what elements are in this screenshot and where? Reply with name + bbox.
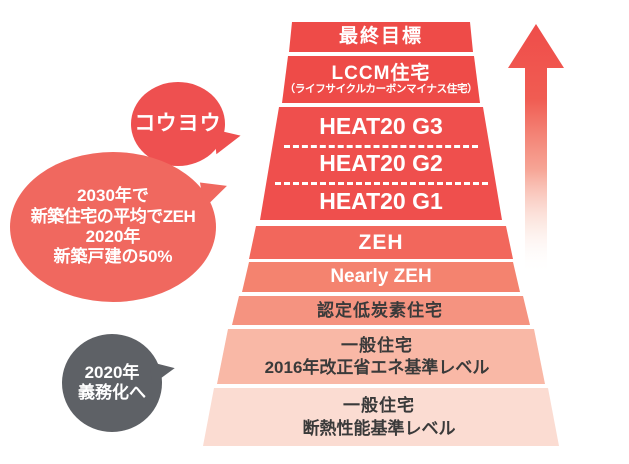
callout-koyo-label: コウヨウ xyxy=(134,111,221,136)
up-arrow-icon xyxy=(505,22,567,274)
diagram-canvas: 最終目標 LCCM住宅 （ライフサイクルカーボンマイナス住宅） HEAT20 G… xyxy=(0,0,629,464)
callout-zeh-target-line4: 新築戸建の50% xyxy=(53,247,172,267)
tier-zeh[interactable]: ZEH xyxy=(252,226,510,259)
heat20-divider-g2-g1 xyxy=(275,182,488,185)
callout-zeh-target-tail xyxy=(200,178,230,208)
callout-obligation-line1: 2020年 xyxy=(85,363,140,383)
tier-general-2016[interactable]: 一般住宅 2016年改正省エネ基準レベル xyxy=(221,329,533,384)
callout-koyo-tail xyxy=(214,127,242,155)
callout-zeh-target-line1: 2030年で xyxy=(77,186,149,206)
zeh-divider xyxy=(252,259,510,262)
callout-obligation-line2: 義務化へ xyxy=(78,383,146,403)
callout-obligation-tail xyxy=(150,360,176,385)
tier-heat20-g2[interactable]: HEAT20 G2 xyxy=(272,146,490,182)
tier-nearly-zeh[interactable]: Nearly ZEH xyxy=(245,262,517,292)
tier-sublabel-general-2016: 2016年改正省エネ基準レベル xyxy=(265,358,490,377)
tier-teitanso[interactable]: 認定低炭素住宅 xyxy=(235,296,525,325)
tier-sublabel-general-base: 断熱性能基準レベル xyxy=(303,419,456,438)
tier-label-general-base: 一般住宅 xyxy=(343,396,415,415)
tier-label-zeh: ZEH xyxy=(359,231,404,255)
tier-label-general-2016: 一般住宅 xyxy=(341,336,413,355)
tier-label-lccm: LCCM住宅 xyxy=(332,63,431,84)
tier-heat20-g1[interactable]: HEAT20 G1 xyxy=(264,183,498,220)
tier-sublabel-lccm: （ライフサイクルカーボンマイナス住宅） xyxy=(285,84,478,96)
tier-label-final-goal: 最終目標 xyxy=(339,26,423,47)
callout-zeh-target[interactable]: 2030年で 新築住宅の平均でZEH 2020年 新築戸建の50% xyxy=(10,152,216,302)
tier-heat20-g3[interactable]: HEAT20 G3 xyxy=(279,108,483,145)
heat20-divider-g3-g2 xyxy=(284,145,478,148)
tier-label-heat20-g1: HEAT20 G1 xyxy=(319,189,443,215)
tier-final-goal[interactable]: 最終目標 xyxy=(289,22,473,52)
callout-koyo[interactable]: コウヨウ xyxy=(131,82,225,166)
callout-obligation[interactable]: 2020年 義務化へ xyxy=(62,334,162,432)
tier-label-heat20-g2: HEAT20 G2 xyxy=(319,151,443,177)
tier-general-base[interactable]: 一般住宅 断熱性能基準レベル xyxy=(207,388,551,446)
tier-lccm[interactable]: LCCM住宅 （ライフサイクルカーボンマイナス住宅） xyxy=(282,56,480,103)
tier-label-heat20-g3: HEAT20 G3 xyxy=(319,114,443,140)
callout-zeh-target-line3: 2020年 xyxy=(86,227,141,247)
tier-label-nearly-zeh: Nearly ZEH xyxy=(330,266,431,287)
tier-label-teitanso: 認定低炭素住宅 xyxy=(317,301,443,320)
callout-zeh-target-line2: 新築住宅の平均でZEH xyxy=(31,207,196,227)
